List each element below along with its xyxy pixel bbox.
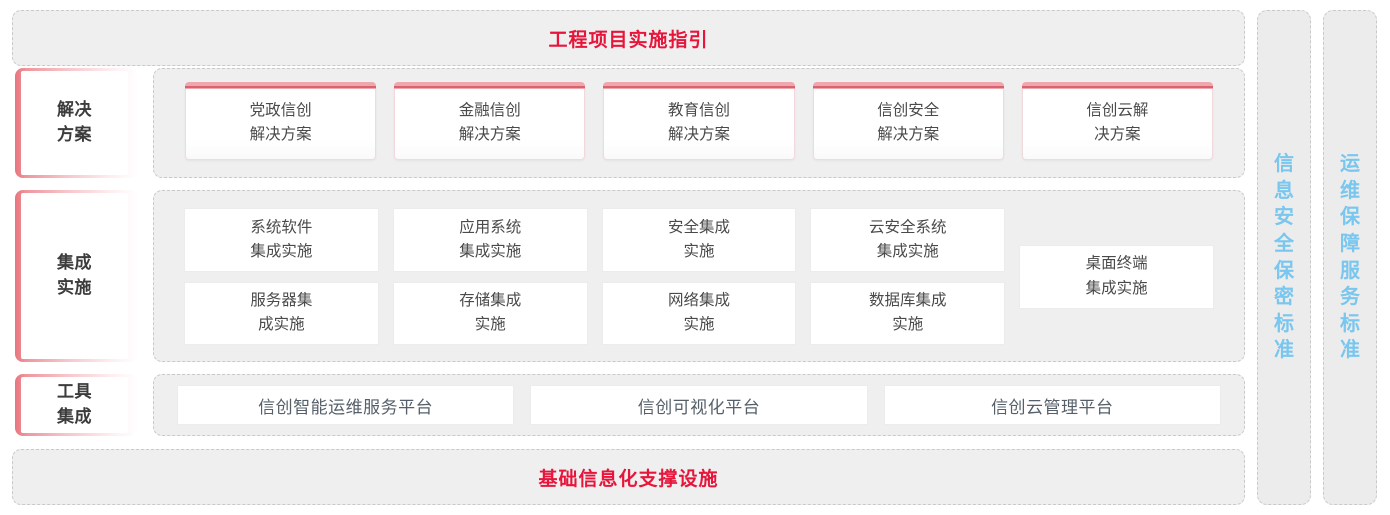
integration-card[interactable]: 数据库集成 实施 — [810, 282, 1005, 346]
integration-card-line2: 实施 — [869, 313, 947, 337]
solution-card-line2: 解决方案 — [668, 123, 730, 147]
solution-card[interactable]: 党政信创 解决方案 — [185, 87, 376, 160]
solution-card-text: 金融信创 解决方案 — [459, 99, 521, 147]
integration-card-grid: 系统软件 集成实施 服务器集 成实施 应用系统 集成实施 — [184, 208, 1214, 345]
solution-card-text: 信创云解 决方案 — [1086, 99, 1148, 147]
integration-card[interactable]: 存储集成 实施 — [393, 282, 588, 346]
integration-card-text: 系统软件 集成实施 — [250, 216, 312, 264]
row-label-integration-text: 集成 实施 — [57, 251, 92, 300]
row-label-tools-line1: 工具 — [57, 380, 92, 405]
solution-card-text: 党政信创 解决方案 — [250, 99, 312, 147]
row-label-integration[interactable]: 集成 实施 — [15, 190, 138, 362]
integration-card-line2: 实施 — [668, 313, 730, 337]
side-column-ops-label: 运维保障服务标准 — [1337, 151, 1363, 364]
tool-card-label: 信创智能运维服务平台 — [258, 393, 433, 418]
integration-column: 系统软件 集成实施 服务器集 成实施 — [184, 208, 379, 345]
integration-card[interactable]: 网络集成 实施 — [602, 282, 797, 346]
solution-card-line1: 党政信创 — [250, 99, 312, 123]
integration-column: 应用系统 集成实施 存储集成 实施 — [393, 208, 588, 345]
row-label-integration-line1: 集成 — [57, 251, 92, 276]
tools-row-panel: 信创智能运维服务平台 信创可视化平台 信创云管理平台 — [153, 374, 1245, 436]
integration-card-line2: 集成实施 — [869, 240, 947, 264]
integration-card-line1: 网络集成 — [668, 289, 730, 313]
integration-card-text: 应用系统 集成实施 — [459, 216, 521, 264]
row-label-tools-inner: 工具 集成 — [21, 377, 128, 433]
integration-card-line2: 实施 — [668, 240, 730, 264]
header-title: 工程项目实施指引 — [548, 25, 708, 52]
integration-card-text: 桌面终端 集成实施 — [1086, 252, 1148, 300]
integration-card-line1: 数据库集成 — [869, 289, 947, 313]
solution-card-line1: 信创云解 — [1086, 99, 1148, 123]
solution-card-text: 教育信创 解决方案 — [668, 99, 730, 147]
row-label-solution[interactable]: 解决 方案 — [15, 68, 138, 178]
footer-banner: 基础信息化支撑设施 — [12, 449, 1245, 505]
solution-card[interactable]: 信创云解 决方案 — [1022, 87, 1213, 160]
row-label-solution-inner: 解决 方案 — [21, 71, 128, 175]
solution-card-text: 信创安全 解决方案 — [877, 99, 939, 147]
solution-card-line1: 金融信创 — [459, 99, 521, 123]
solution-card-grid: 党政信创 解决方案 金融信创 解决方案 教育信创 解决方案 信创安全 — [185, 87, 1213, 160]
integration-card[interactable]: 系统软件 集成实施 — [184, 208, 379, 272]
integration-column: 桌面终端 集成实施 — [1019, 208, 1214, 345]
row-label-tools-line2: 集成 — [57, 405, 92, 430]
row-label-solution-text: 解决 方案 — [57, 98, 92, 147]
integration-card-line2: 集成实施 — [459, 240, 521, 264]
solution-card[interactable]: 教育信创 解决方案 — [603, 87, 794, 160]
tool-card[interactable]: 信创云管理平台 — [884, 385, 1221, 425]
integration-card[interactable]: 云安全系统 集成实施 — [810, 208, 1005, 272]
row-label-integration-inner: 集成 实施 — [21, 193, 128, 359]
side-column-security-label: 信息安全保密标准 — [1271, 151, 1297, 364]
header-banner: 工程项目实施指引 — [12, 10, 1245, 66]
integration-card[interactable]: 安全集成 实施 — [602, 208, 797, 272]
solution-card-line2: 解决方案 — [877, 123, 939, 147]
integration-card-line2: 实施 — [459, 313, 521, 337]
integration-card-text: 网络集成 实施 — [668, 289, 730, 337]
solution-card-line2: 解决方案 — [459, 123, 521, 147]
row-label-solution-line1: 解决 — [57, 98, 92, 123]
solution-card-line1: 教育信创 — [668, 99, 730, 123]
solution-card-line2: 解决方案 — [250, 123, 312, 147]
tools-card-grid: 信创智能运维服务平台 信创可视化平台 信创云管理平台 — [177, 385, 1221, 425]
diagram-canvas: 工程项目实施指引 解决 方案 党政信创 解决方案 金融信创 解决方案 — [0, 0, 1390, 515]
integration-column: 云安全系统 集成实施 数据库集成 实施 — [810, 208, 1005, 345]
footer-title: 基础信息化支撑设施 — [538, 464, 718, 491]
integration-column: 安全集成 实施 网络集成 实施 — [602, 208, 797, 345]
row-label-integration-line2: 实施 — [57, 276, 92, 301]
integration-card-text: 云安全系统 集成实施 — [869, 216, 947, 264]
integration-card-line1: 桌面终端 — [1086, 252, 1148, 276]
integration-card-line2: 集成实施 — [250, 240, 312, 264]
integration-card-line1: 安全集成 — [668, 216, 730, 240]
integration-card-line1: 服务器集 — [250, 289, 312, 313]
integration-card[interactable]: 应用系统 集成实施 — [393, 208, 588, 272]
solution-card[interactable]: 金融信创 解决方案 — [394, 87, 585, 160]
integration-card-text: 数据库集成 实施 — [869, 289, 947, 337]
side-column-security[interactable]: 信息安全保密标准 — [1257, 10, 1311, 505]
row-label-tools[interactable]: 工具 集成 — [15, 374, 138, 436]
solution-card[interactable]: 信创安全 解决方案 — [813, 87, 1004, 160]
side-column-ops[interactable]: 运维保障服务标准 — [1323, 10, 1377, 505]
integration-card-line1: 应用系统 — [459, 216, 521, 240]
tool-card[interactable]: 信创智能运维服务平台 — [177, 385, 514, 425]
solution-row-panel: 党政信创 解决方案 金融信创 解决方案 教育信创 解决方案 信创安全 — [153, 68, 1245, 178]
tool-card-label: 信创可视化平台 — [638, 393, 761, 418]
integration-card-line1: 系统软件 — [250, 216, 312, 240]
integration-card-text: 存储集成 实施 — [459, 289, 521, 337]
row-label-tools-text: 工具 集成 — [57, 380, 92, 429]
integration-card-line2: 成实施 — [250, 313, 312, 337]
tool-card[interactable]: 信创可视化平台 — [530, 385, 867, 425]
integration-card-text: 服务器集 成实施 — [250, 289, 312, 337]
integration-card-line2: 集成实施 — [1086, 277, 1148, 301]
solution-card-line2: 决方案 — [1086, 123, 1148, 147]
integration-card-line1: 存储集成 — [459, 289, 521, 313]
integration-row-panel: 系统软件 集成实施 服务器集 成实施 应用系统 集成实施 — [153, 190, 1245, 362]
integration-card-line1: 云安全系统 — [869, 216, 947, 240]
row-label-solution-line2: 方案 — [57, 123, 92, 148]
integration-card-text: 安全集成 实施 — [668, 216, 730, 264]
integration-card[interactable]: 服务器集 成实施 — [184, 282, 379, 346]
tool-card-label: 信创云管理平台 — [991, 393, 1114, 418]
integration-card[interactable]: 桌面终端 集成实施 — [1019, 245, 1214, 309]
solution-card-line1: 信创安全 — [877, 99, 939, 123]
